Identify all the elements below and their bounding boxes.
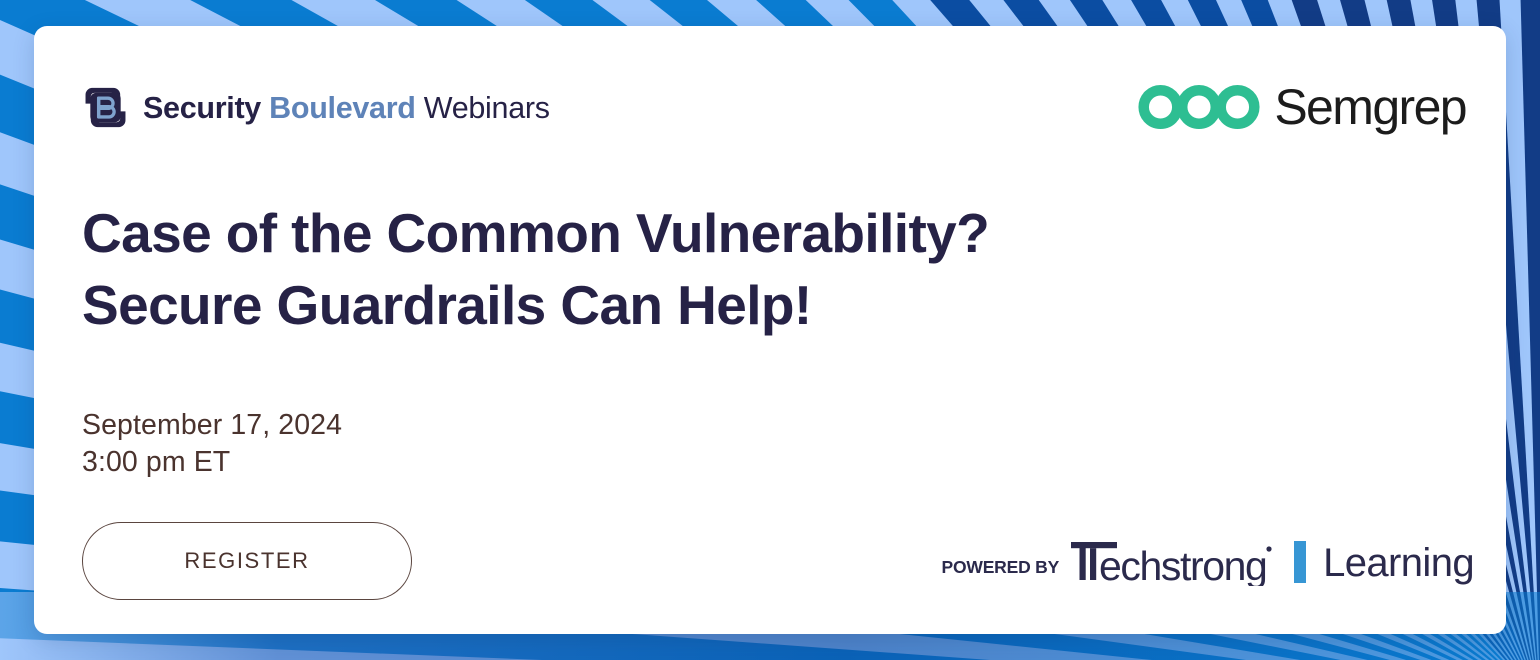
powered-by-label: POWERED BY bbox=[942, 557, 1060, 586]
brand-word-security: Security bbox=[143, 91, 261, 125]
techstrong-wordmark-icon: echstrong bbox=[1069, 536, 1277, 586]
techstrong-learning-logo: POWERED BY echstrong Learning bbox=[942, 532, 1475, 586]
security-boulevard-logo: Security Boulevard Webinars bbox=[82, 72, 550, 142]
brand-word-boulevard: Boulevard bbox=[269, 91, 415, 125]
content-card: Security Boulevard Webinars Semgrep Cas bbox=[34, 26, 1506, 634]
semgrep-wordmark: Semgrep bbox=[1274, 82, 1466, 132]
headline-line-2: Secure Guardrails Can Help! bbox=[82, 270, 1262, 342]
learning-wordmark: Learning bbox=[1323, 543, 1474, 586]
security-boulevard-sb-monogram-icon bbox=[82, 84, 129, 131]
semgrep-logo: Semgrep bbox=[1138, 74, 1466, 140]
semgrep-three-rings-icon bbox=[1138, 82, 1260, 132]
webinar-date: September 17, 2024 bbox=[82, 407, 342, 444]
schedule-block: September 17, 2024 3:00 pm ET bbox=[82, 407, 342, 481]
webinar-time: 3:00 pm ET bbox=[82, 444, 342, 481]
headline-line-1: Case of the Common Vulnerability? bbox=[82, 198, 1262, 270]
webinar-promo-banner: Security Boulevard Webinars Semgrep Cas bbox=[0, 0, 1540, 660]
brand-header-row: Security Boulevard Webinars Semgrep bbox=[82, 72, 1466, 142]
brand-word-webinars: Webinars bbox=[424, 91, 550, 125]
logo-divider-bar bbox=[1294, 541, 1306, 583]
svg-text:echstrong: echstrong bbox=[1099, 543, 1266, 586]
page-title: Case of the Common Vulnerability? Secure… bbox=[82, 198, 1262, 341]
register-button[interactable]: REGISTER bbox=[82, 522, 412, 600]
security-boulevard-wordmark: Security Boulevard Webinars bbox=[143, 91, 550, 124]
